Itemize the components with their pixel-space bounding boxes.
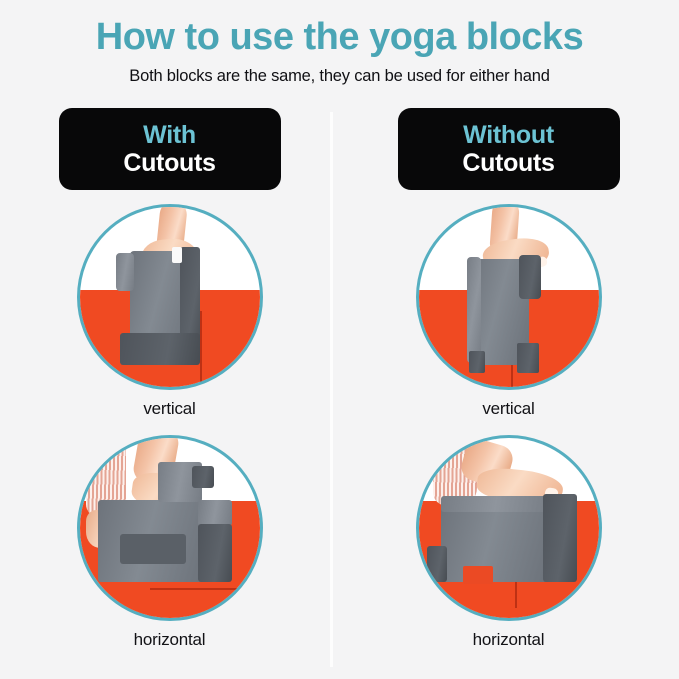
photo-scene [80,438,260,618]
photo-circle [416,435,602,621]
badge-main-label: Cutouts [123,149,215,177]
yoga-block-base [120,333,200,365]
yoga-block-cutout-notch [172,247,182,263]
badge-with-cutouts: With Cutouts [59,108,281,190]
yoga-block-lower-step [198,500,232,526]
yoga-block-foot-left [469,351,485,373]
yoga-block-left-edge [467,257,481,363]
page-title: How to use the yoga blocks [0,18,679,58]
badge-accent-label: With [143,122,196,149]
yoga-block-foot-left [427,546,447,582]
photo-scene [80,207,260,387]
yoga-block-gap [463,566,493,584]
badge-without-cutouts: Without Cutouts [398,108,620,190]
badge-main-label: Cutouts [462,149,554,177]
photo-scene [419,438,599,618]
yoga-block-side [543,494,577,582]
yoga-block-cutout-notch [120,534,186,564]
photo-without-cutouts-horizontal: horizontal [416,435,602,650]
photo-circle [416,204,602,390]
photo-caption: vertical [77,399,263,419]
photo-caption: horizontal [416,630,602,650]
photo-circle [77,435,263,621]
comparison-columns: With Cutouts [0,106,679,679]
page-subtitle: Both blocks are the same, they can be us… [0,67,679,86]
header: How to use the yoga blocks Both blocks a… [0,0,679,86]
column-without-cutouts: Without Cutouts [339,106,678,679]
photo-caption: vertical [416,399,602,419]
infographic-root: How to use the yoga blocks Both blocks a… [0,0,679,679]
yoga-block-side [198,524,232,582]
yoga-block-cutout-tab [192,466,214,488]
photo-with-cutouts-vertical: vertical [77,204,263,419]
photo-without-cutouts-vertical: vertical [416,204,602,419]
yoga-block-cutout-tab [116,253,134,291]
photo-scene [419,207,599,387]
badge-accent-label: Without [463,122,554,149]
column-with-cutouts: With Cutouts [0,106,339,679]
photo-circle [77,204,263,390]
yoga-block-top-shelf [519,255,541,299]
photo-caption: horizontal [77,630,263,650]
yoga-block-top [441,496,551,512]
yoga-block-foot-right [517,343,539,373]
photo-with-cutouts-horizontal: horizontal [77,435,263,650]
